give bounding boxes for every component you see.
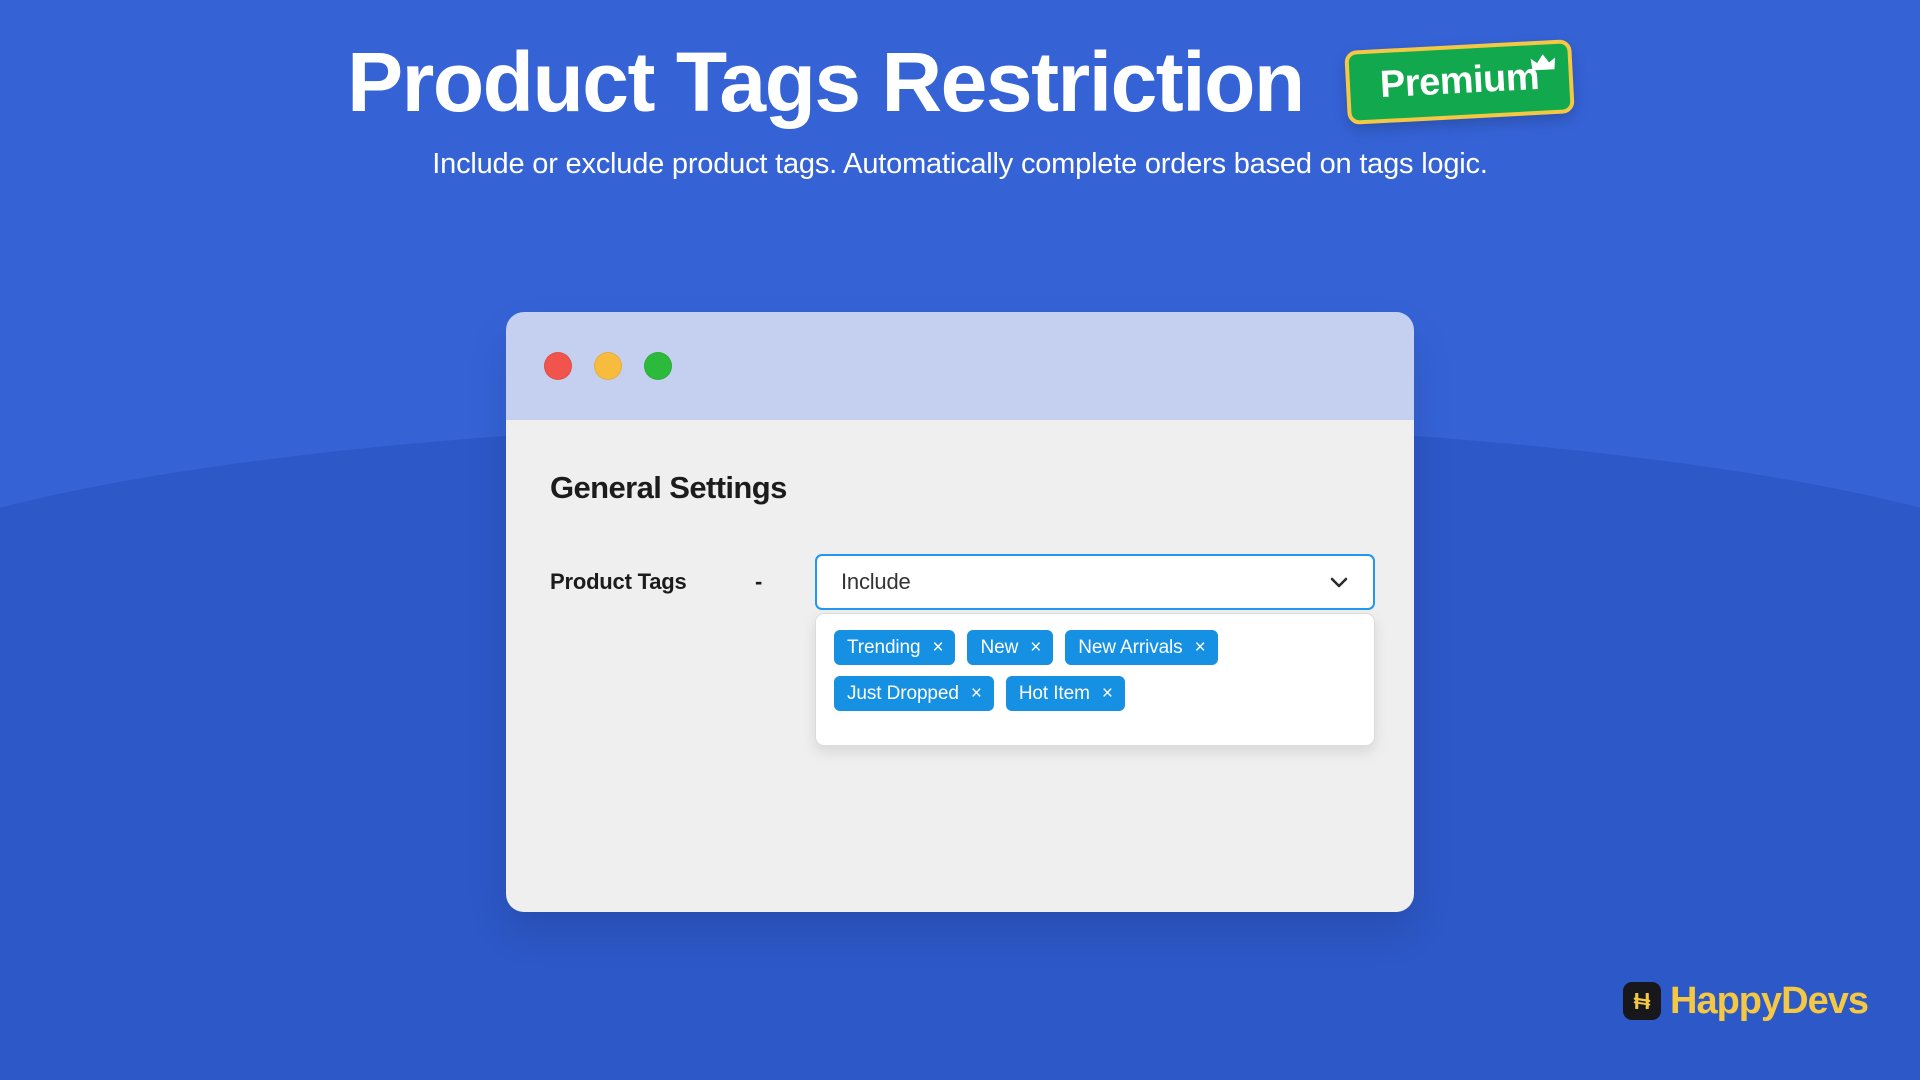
tag-chip[interactable]: New Arrivals× xyxy=(1065,630,1217,665)
tag-chip-remove-icon[interactable]: × xyxy=(932,638,943,657)
tag-chip-remove-icon[interactable]: × xyxy=(1030,638,1041,657)
tags-mode-select[interactable]: Include xyxy=(815,554,1375,610)
tag-chip-remove-icon[interactable]: × xyxy=(1102,684,1113,703)
chevron-down-icon xyxy=(1327,570,1351,594)
page-subtitle: Include or exclude product tags. Automat… xyxy=(0,148,1920,181)
product-tags-label: Product Tags xyxy=(550,554,755,595)
tag-chip-label: New xyxy=(980,637,1018,659)
selected-tags-panel: Trending×New×New Arrivals×Just Dropped×H… xyxy=(815,613,1375,746)
tag-chip-label: Just Dropped xyxy=(847,683,959,705)
product-tags-form-row: Product Tags - Include Trending×New×New … xyxy=(550,554,1370,746)
tag-chip[interactable]: New× xyxy=(967,630,1053,665)
tag-chip-label: New Arrivals xyxy=(1078,637,1182,659)
browser-window-mockup: General Settings Product Tags - Include … xyxy=(506,312,1414,912)
window-close-button[interactable] xyxy=(544,352,572,380)
section-heading: General Settings xyxy=(550,470,1370,506)
tag-chip-remove-icon[interactable]: × xyxy=(971,684,982,703)
tag-chip[interactable]: Hot Item× xyxy=(1006,676,1125,711)
title-row: Product Tags Restriction Premium xyxy=(0,38,1920,126)
window-maximize-button[interactable] xyxy=(644,352,672,380)
brand-name: HappyDevs xyxy=(1670,982,1868,1020)
browser-titlebar xyxy=(506,312,1414,420)
tag-chip-remove-icon[interactable]: × xyxy=(1195,638,1206,657)
brand-logo: HappyDevs xyxy=(1623,982,1868,1020)
product-tags-control: Include Trending×New×New Arrivals×Just D… xyxy=(815,554,1375,746)
tag-chip-label: Hot Item xyxy=(1019,683,1090,705)
premium-badge: Premium xyxy=(1344,39,1575,125)
window-minimize-button[interactable] xyxy=(594,352,622,380)
crown-icon xyxy=(1529,52,1556,73)
happydevs-mark-icon xyxy=(1623,982,1661,1020)
settings-panel: General Settings Product Tags - Include … xyxy=(506,420,1414,912)
happydevs-h-glyph xyxy=(1630,989,1654,1013)
premium-badge-label: Premium xyxy=(1379,58,1540,104)
page-header: Product Tags Restriction Premium Include… xyxy=(0,0,1920,181)
tag-chip[interactable]: Trending× xyxy=(834,630,955,665)
tag-chip[interactable]: Just Dropped× xyxy=(834,676,994,711)
tags-mode-select-value: Include xyxy=(841,569,911,595)
page-title: Product Tags Restriction xyxy=(347,38,1304,126)
tag-chip-label: Trending xyxy=(847,637,920,659)
field-separator: - xyxy=(755,554,815,595)
